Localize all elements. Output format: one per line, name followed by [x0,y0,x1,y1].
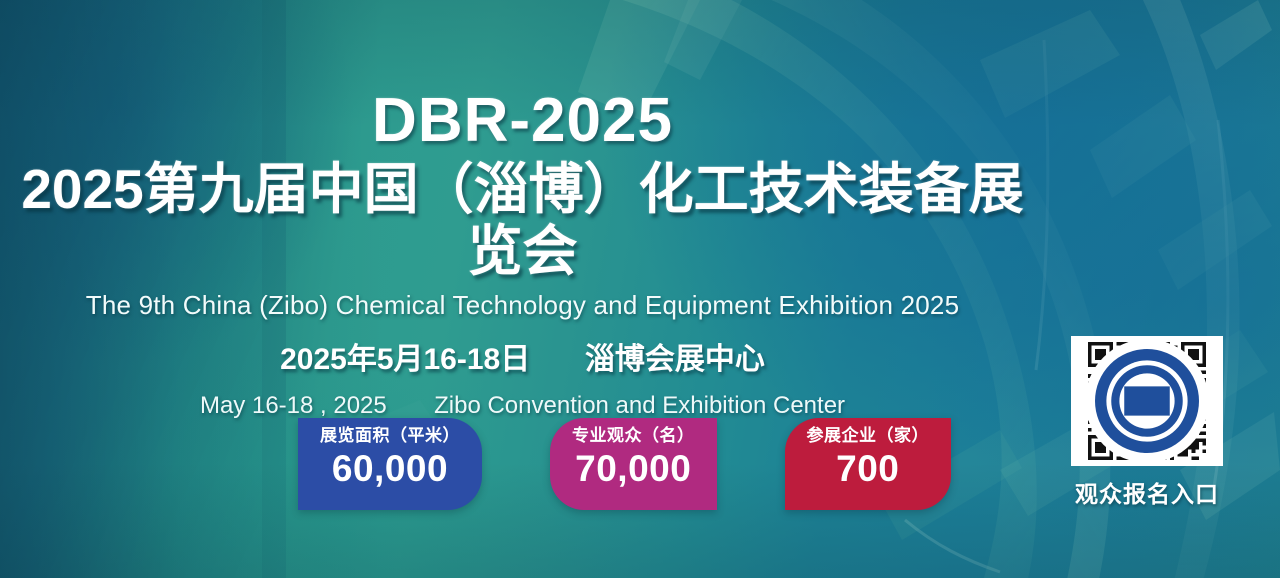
date-venue-chinese: 2025年5月16-18日 淄博会展中心 [0,334,1045,378]
stat-badge-professional-visitors: 专业观众（名） 70,000 [550,418,717,510]
stat-label: 展览面积（平米） [320,427,460,446]
stat-label: 参展企业（家） [807,427,930,446]
event-title-chinese: 2025第九届中国（淄博）化工技术装备展览会 [0,159,1045,282]
exhibition-banner: DBR-2025 2025第九届中国（淄博）化工技术装备展览会 The 9th … [0,0,1280,578]
event-code-title: DBR-2025 [0,88,1045,153]
date-chinese: 2025年5月16-18日 [280,343,530,376]
stat-value: 70,000 [572,449,695,489]
qr-code-icon[interactable] [1071,336,1223,466]
date-english: May 16-18 , 2025 [200,392,387,419]
stat-badge-exhibiting-companies: 参展企业（家） 700 [785,418,952,510]
event-title-english: The 9th China (Zibo) Chemical Technology… [0,290,1045,321]
banner-content: DBR-2025 2025第九届中国（淄博）化工技术装备展览会 The 9th … [0,0,1280,578]
stat-value: 700 [807,449,930,489]
statistics-row: 展览面积（平米） 60,000 专业观众（名） 70,000 参展企业（家） 7… [298,418,951,510]
venue-chinese: 淄博会展中心 [585,343,765,376]
title-block: DBR-2025 2025第九届中国（淄博）化工技术装备展览会 The 9th … [0,0,1045,420]
visitor-registration-block[interactable]: 观众报名入口 [1068,336,1226,509]
qr-center-logo-icon [1071,336,1223,466]
date-venue-english: May 16-18 , 2025 Zibo Convention and Exh… [0,392,1045,420]
stat-value: 60,000 [320,449,460,489]
registration-caption: 观众报名入口 [1068,475,1226,509]
stat-badge-exhibition-area: 展览面积（平米） 60,000 [298,418,482,510]
venue-english: Zibo Convention and Exhibition Center [434,392,845,419]
stat-label: 专业观众（名） [572,427,695,446]
